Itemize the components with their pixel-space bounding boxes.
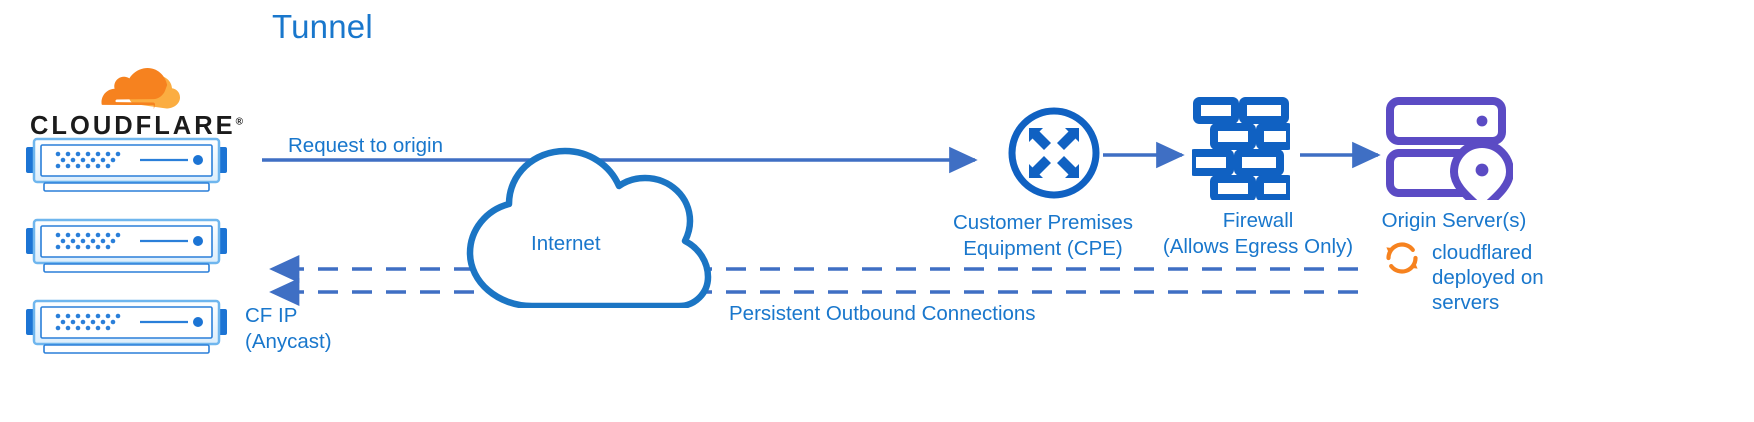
server-rack-unit	[24, 137, 229, 199]
cpe-label-line1: Customer Premises	[947, 210, 1139, 236]
brick-wall-icon	[1192, 96, 1290, 205]
node-label-cpe: Customer Premises Equipment (CPE)	[947, 210, 1139, 262]
cf-ip-line2: (Anycast)	[245, 329, 395, 355]
page-title: Tunnel	[272, 8, 373, 46]
cloudflare-logo: CLOUDFLARE®	[30, 68, 230, 140]
edge-label-request-to-origin: Request to origin	[288, 133, 443, 159]
server-rack-unit	[24, 299, 229, 361]
cloudflare-wordmark-text: CLOUDFLARE	[30, 112, 236, 140]
trademark-symbol: ®	[236, 117, 243, 128]
server-rack-unit	[24, 218, 229, 280]
converging-arrows-circle-icon	[1007, 106, 1101, 205]
sync-refresh-icon	[1381, 237, 1423, 284]
firewall-label-line2: (Allows Egress Only)	[1158, 234, 1358, 260]
server-location-pin-icon	[1385, 96, 1513, 205]
node-label-internet: Internet	[531, 231, 601, 257]
node-label-cloudflared: cloudflared deployed on servers	[1432, 240, 1550, 315]
cpe-label-line2: Equipment (CPE)	[947, 236, 1139, 262]
firewall-label-line1: Firewall	[1158, 208, 1358, 234]
diagram-canvas: Tunnel CLOUDFLARE®	[0, 0, 1754, 422]
cloud-outline-icon	[448, 140, 718, 313]
cf-ip-line1: CF IP	[245, 303, 395, 329]
edge-label-cf-ip: CF IP (Anycast)	[245, 303, 395, 355]
node-label-origin-servers: Origin Server(s)	[1374, 208, 1534, 234]
node-label-firewall: Firewall (Allows Egress Only)	[1158, 208, 1358, 260]
edge-label-persistent-outbound: Persistent Outbound Connections	[729, 301, 1036, 327]
cloudflare-cloud-icon	[96, 68, 186, 117]
